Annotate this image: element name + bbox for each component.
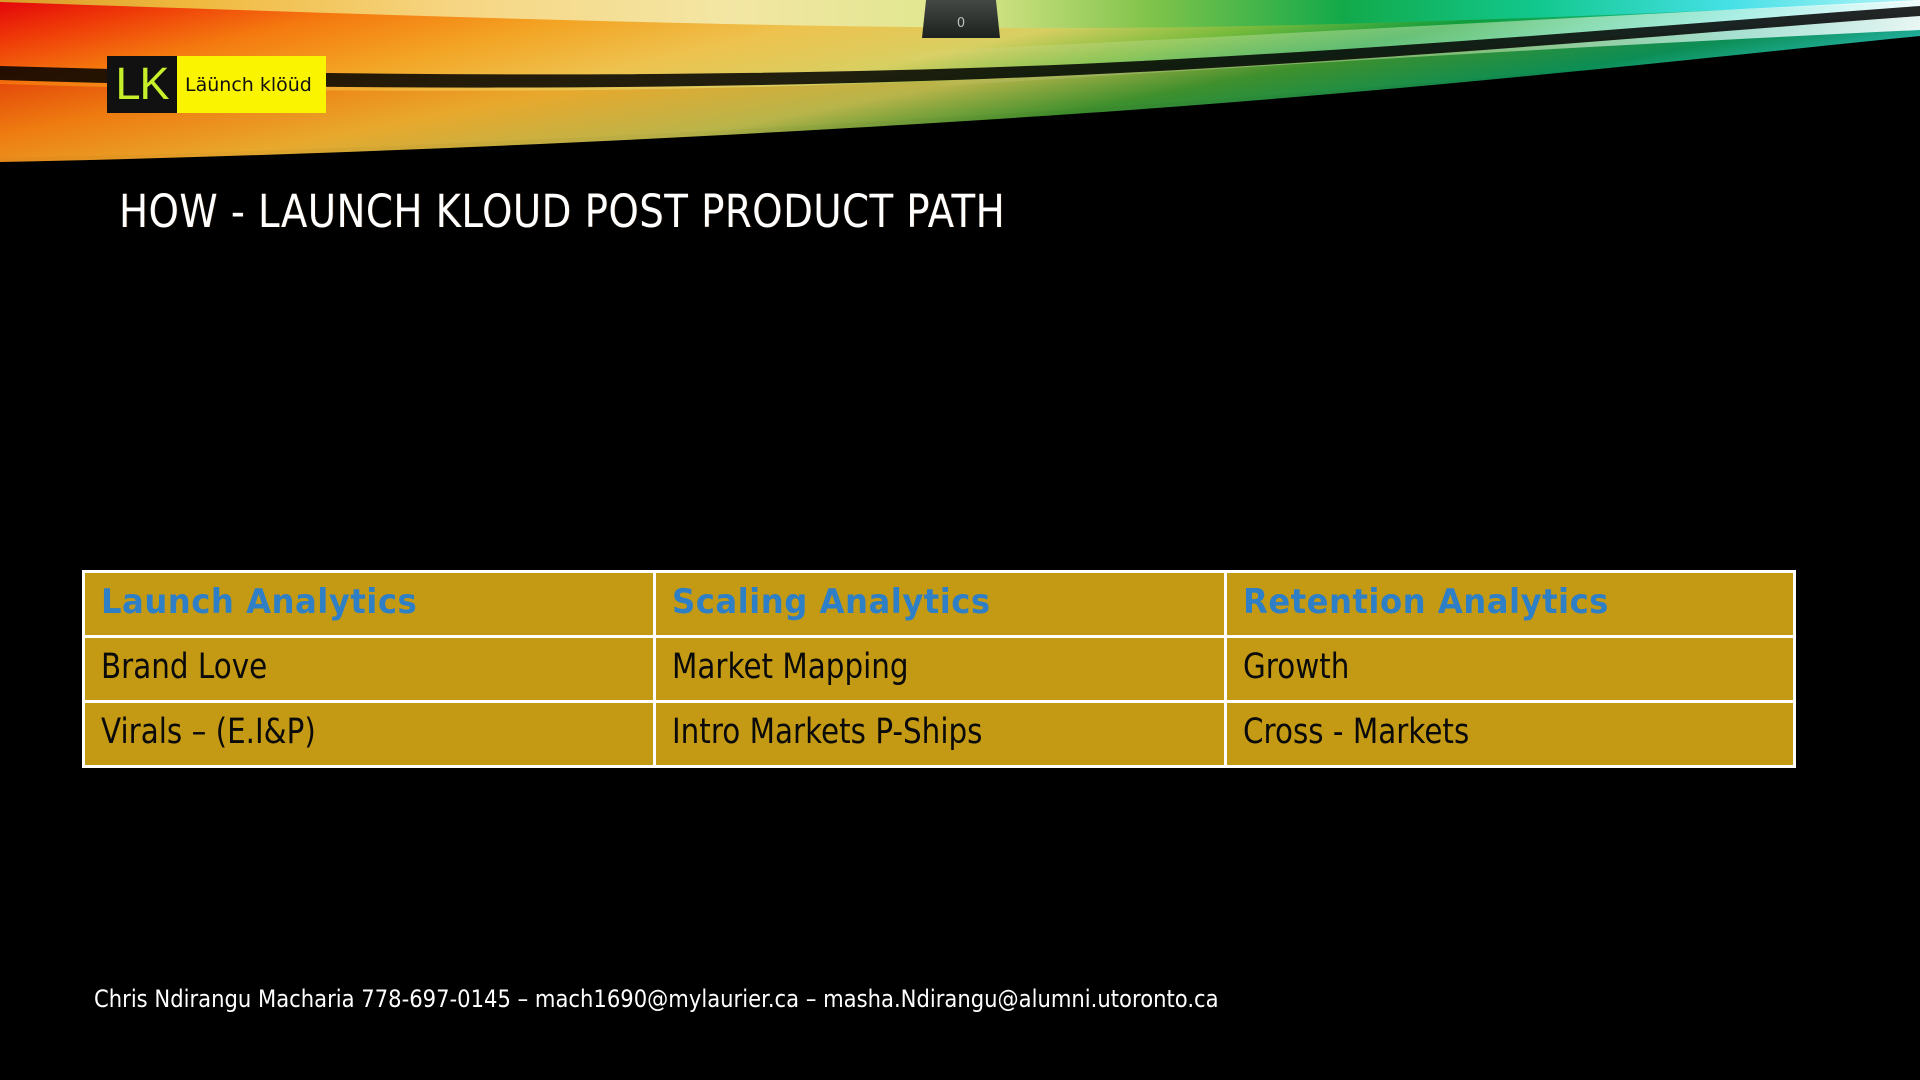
table-cell: Market Mapping <box>656 638 1224 700</box>
column-header-label: Launch Analytics <box>101 582 417 622</box>
logo-wordmark: Läünch klöüd <box>177 56 326 113</box>
analytics-table-container: Launch Analytics Scaling Analytics Reten… <box>82 570 1790 768</box>
table-cell: Brand Love <box>85 638 653 700</box>
footer-contact-text: Chris Ndirangu Macharia 778-697-0145 – m… <box>94 985 1219 1013</box>
table-cell: Growth <box>1227 638 1793 700</box>
table-cell-label: Market Mapping <box>672 647 909 687</box>
table-cell-label: Growth <box>1243 647 1349 687</box>
table-cell-label: Virals – (E.I&P) <box>101 712 316 752</box>
ribbon-highlight <box>900 0 1920 86</box>
presentation-slide: 0 LK Läünch klöüd HOW - LAUNCH KLOUD POS… <box>0 0 1920 1080</box>
table-cell-label: Intro Markets P-Ships <box>672 712 982 752</box>
analytics-table: Launch Analytics Scaling Analytics Reten… <box>82 570 1796 768</box>
table-cell: Intro Markets P-Ships <box>656 703 1224 765</box>
table-header-cell-retention: Retention Analytics <box>1227 573 1793 635</box>
table-cell: Cross - Markets <box>1227 703 1793 765</box>
table-row: Virals – (E.I&P) Intro Markets P-Ships C… <box>85 703 1793 765</box>
table-header-cell-launch: Launch Analytics <box>85 573 653 635</box>
table-header-cell-scaling: Scaling Analytics <box>656 573 1224 635</box>
decorative-tab: 0 <box>922 0 1000 38</box>
table-cell: Virals – (E.I&P) <box>85 703 653 765</box>
table-header-row: Launch Analytics Scaling Analytics Reten… <box>85 573 1793 635</box>
table-row: Brand Love Market Mapping Growth <box>85 638 1793 700</box>
page-title: HOW - LAUNCH KLOUD POST PRODUCT PATH <box>119 188 1005 235</box>
table-cell-label: Cross - Markets <box>1243 712 1469 752</box>
column-header-label: Retention Analytics <box>1243 582 1609 622</box>
logo-monogram: LK <box>107 56 177 113</box>
brand-logo[interactable]: LK Läünch klöüd <box>107 56 326 113</box>
table-cell-label: Brand Love <box>101 647 267 687</box>
column-header-label: Scaling Analytics <box>672 582 991 622</box>
